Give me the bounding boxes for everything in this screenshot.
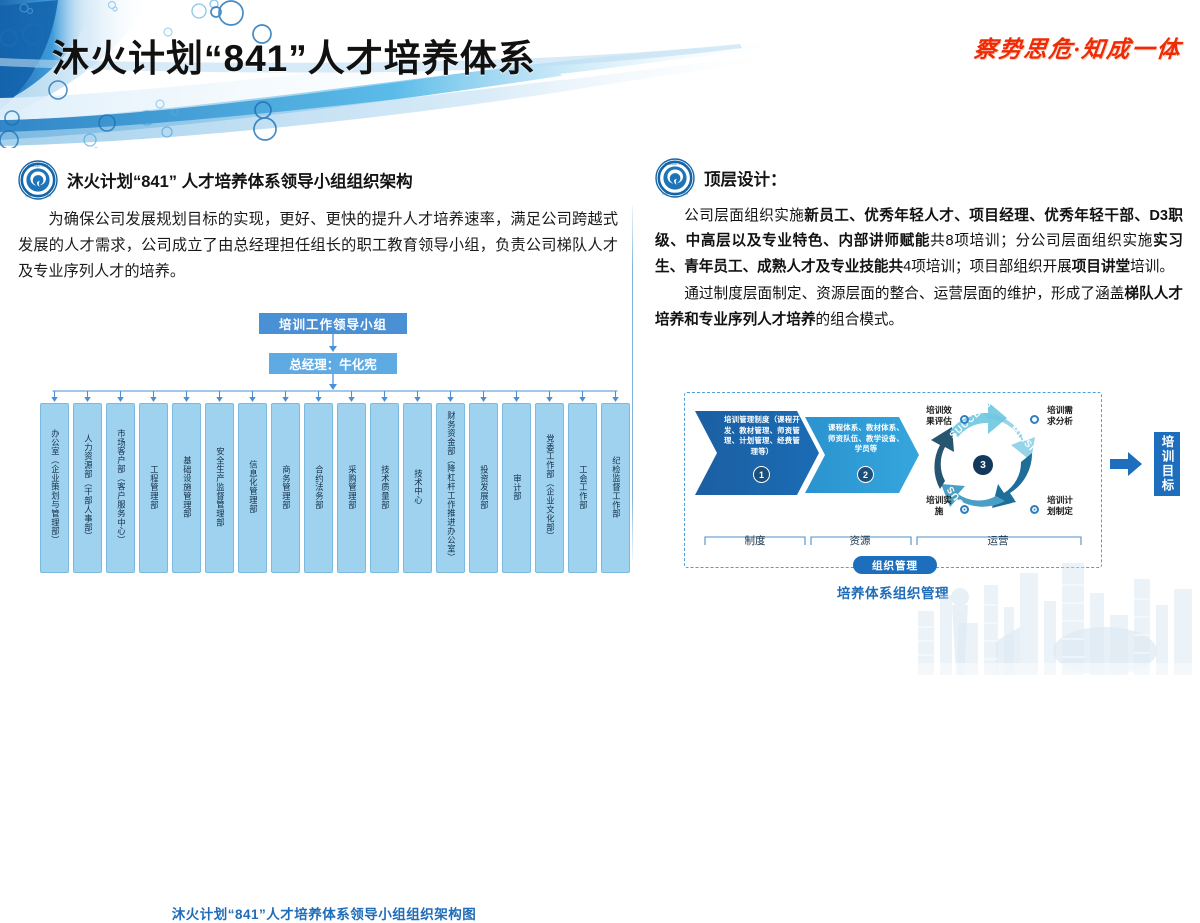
right-section-header: 中国建筑第八工程局 CHINA CONSTRUCTION 顶层设计：: [655, 158, 1195, 198]
department-label: 技术质量部: [380, 465, 390, 509]
training-goal-box: 培训目标: [1154, 432, 1180, 496]
department-label: 工会工作部: [578, 465, 588, 509]
right-panel: 中国建筑第八工程局 CHINA CONSTRUCTION 顶层设计： 公司层面组…: [655, 158, 1195, 333]
group-label-resource: 资源: [820, 533, 900, 548]
department-box[interactable]: 市场客户部（客户服务中心）: [106, 403, 135, 573]
department-box[interactable]: 安全生产监督管理部: [205, 403, 234, 573]
ring-dot-top-right-icon: [1030, 415, 1039, 424]
department-box[interactable]: 党委工作部（企业文化部）: [535, 403, 564, 573]
left-section-title: 沐火计划“841” 人才培养体系领导小组组织架构: [67, 168, 413, 192]
department-label: 合约法务部: [314, 465, 324, 509]
plain-text: 共8项培训；分公司层面组织实施: [930, 233, 1153, 249]
department-label: 财务资金部（降杠杆工作推进办公室）: [446, 411, 456, 562]
left-paragraph: 为确保公司发展规划目标的实现，更好、更快的提升人才培养速率，满足公司跨越式发展的…: [18, 207, 618, 285]
svg-text:CHINA CONSTRUCTION: CHINA CONSTRUCTION: [662, 192, 689, 195]
department-label: 工程管理部: [149, 465, 159, 509]
org-management-pill: 组织管理: [853, 556, 937, 574]
ring-label-effect-evaluation: 培训效果评估: [922, 405, 956, 428]
company-emblem-icon: 中国建筑第八工程局 CHINA CONSTRUCTION: [18, 160, 58, 200]
plain-text: 公司层面组织实施: [684, 208, 804, 224]
department-label: 采购管理部: [347, 465, 357, 509]
goal-arrow-icon: [1110, 450, 1144, 478]
process-diagram: SUCCESS MISSION VISION FOCUS 培训管理制度（课程开发…: [684, 392, 1102, 568]
chevron-2-text: 课程体系、教材体系、师资队伍、教学设备、学员等: [825, 423, 907, 455]
department-box[interactable]: 商务管理部: [271, 403, 300, 573]
city-watermark: [900, 545, 1200, 675]
chevron-1-text: 培训管理制度（课程开发、教材管理、师资管理、计划管理、经费管理等）: [721, 415, 803, 458]
department-label: 技术中心: [413, 469, 423, 505]
svg-text:CHINA CONSTRUCTION: CHINA CONSTRUCTION: [25, 194, 52, 197]
ring-label-demand-analysis: 培训需求分析: [1043, 405, 1077, 428]
plain-text: 的组合模式。: [816, 312, 904, 328]
department-box[interactable]: 合约法务部: [304, 403, 333, 573]
department-box[interactable]: 工会工作部: [568, 403, 597, 573]
slogan-text: 察势思危·知成一体: [972, 30, 1183, 64]
ring-dot-bottom-right-icon: [1030, 505, 1039, 514]
left-panel: 中国建筑第八工程局 CHINA CONSTRUCTION 沐火计划“841” 人…: [18, 160, 628, 285]
vertical-divider: [632, 205, 633, 560]
department-label: 纪检监督工作部: [611, 456, 621, 518]
department-label: 审计部: [512, 474, 522, 501]
ring-dot-top-left-icon: [960, 415, 969, 424]
department-label: 人力资源部（干部人事部）: [83, 434, 93, 541]
emphasis-text: 项目讲堂: [1072, 259, 1130, 275]
department-box[interactable]: 信息化管理部: [238, 403, 267, 573]
department-label: 办公室（企业策划与管理部）: [50, 429, 60, 545]
department-box[interactable]: 审计部: [502, 403, 531, 573]
chevron-1-number: 1: [753, 466, 770, 483]
chevron-2-number: 2: [857, 466, 874, 483]
plain-text: 通过制度层面制定、资源层面的整合、运营层面的维护，形成了涵盖: [684, 286, 1124, 302]
right-section-title: 顶层设计：: [704, 166, 787, 190]
department-list: 办公室（企业策划与管理部）人力资源部（干部人事部）市场客户部（客户服务中心）工程…: [40, 403, 630, 573]
department-label: 投资发展部: [479, 465, 489, 509]
department-label: 党委工作部（企业文化部）: [545, 434, 555, 541]
department-box[interactable]: 办公室（企业策划与管理部）: [40, 403, 69, 573]
department-box[interactable]: 纪检监督工作部: [601, 403, 630, 573]
department-label: 基础设施管理部: [182, 456, 192, 518]
department-label: 市场客户部（客户服务中心）: [116, 429, 126, 545]
left-section-header: 中国建筑第八工程局 CHINA CONSTRUCTION 沐火计划“841” 人…: [18, 160, 628, 200]
department-box[interactable]: 技术质量部: [370, 403, 399, 573]
group-label-system: 制度: [715, 533, 795, 548]
company-emblem-icon-right: 中国建筑第八工程局 CHINA CONSTRUCTION: [655, 158, 695, 198]
header-banner: 沐火计划“841”人才培养体系 察势思危·知成一体: [0, 0, 1200, 148]
department-box[interactable]: 采购管理部: [337, 403, 366, 573]
department-label: 信息化管理部: [248, 460, 258, 513]
plain-text: 4项培训；项目部组织开展: [903, 259, 1072, 275]
department-label: 商务管理部: [281, 465, 291, 509]
department-box[interactable]: 技术中心: [403, 403, 432, 573]
department-box[interactable]: 投资发展部: [469, 403, 498, 573]
department-label: 安全生产监督管理部: [215, 447, 225, 527]
ring-label-plan-making: 培训计划制定: [1043, 495, 1077, 518]
department-box[interactable]: 人力资源部（干部人事部）: [73, 403, 102, 573]
right-paragraph-2: 通过制度层面制定、资源层面的整合、运营层面的维护，形成了涵盖梯队人才培养和专业序…: [655, 282, 1183, 333]
right-paragraph-1: 公司层面组织实施新员工、优秀年轻人才、项目经理、优秀年轻干部、D3职级、中高层以…: [655, 204, 1183, 280]
plain-text: 培训。: [1130, 259, 1174, 275]
department-box[interactable]: 工程管理部: [139, 403, 168, 573]
org-chart: 培训工作领导小组 总经理：牛化宪 办公室（企业策划与管理部）人力资源部（干部人事…: [18, 313, 630, 585]
ring-center-number: 3: [973, 455, 993, 475]
ring-dot-bottom-left-icon: [960, 505, 969, 514]
ring-label-implementation: 培训实施: [922, 495, 956, 518]
department-box[interactable]: 基础设施管理部: [172, 403, 201, 573]
left-caption: 沐火计划“841”人才培养体系领导小组组织架构图: [18, 903, 630, 923]
page-title: 沐火计划“841”人才培养体系: [52, 28, 536, 82]
department-box[interactable]: 财务资金部（降杠杆工作推进办公室）: [436, 403, 465, 573]
